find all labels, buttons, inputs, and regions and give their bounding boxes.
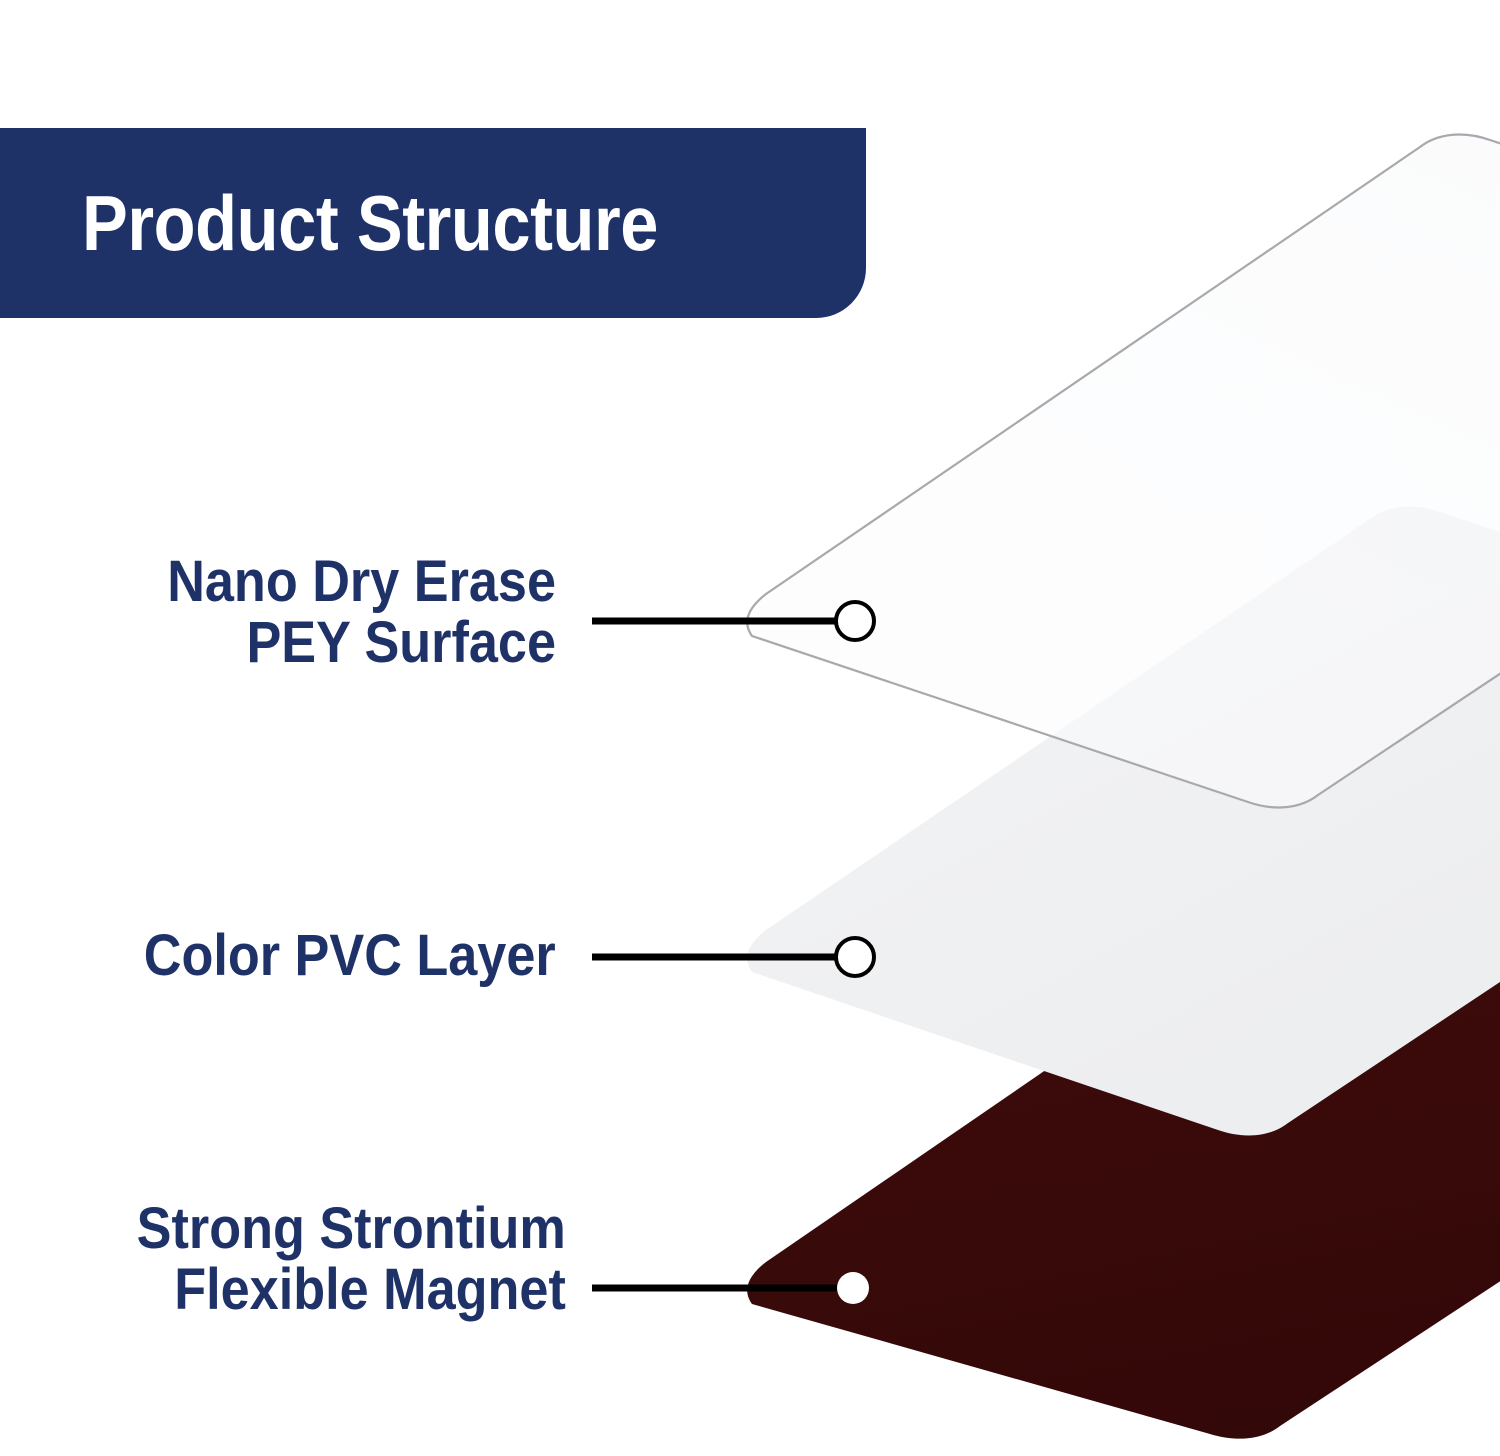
callout-dot-color-pvc-layer: [836, 938, 874, 976]
product-structure-infographic: Product Structure Nano Dry Erase PEY Sur…: [0, 0, 1500, 1456]
callout-dot-strong-strontium-flexible-magnet: [837, 1272, 869, 1304]
header-banner: Product Structure: [0, 128, 866, 318]
callout-label-color-pvc-layer: Color PVC Layer: [144, 925, 556, 986]
layer-shape-color-pvc-layer: [747, 507, 1500, 1136]
callout-dot-nano-dry-erase-pey-surface: [836, 602, 874, 640]
layer-shape-strong-strontium-flexible-magnet: [747, 877, 1500, 1438]
callout-label-nano-dry-erase-pey-surface: Nano Dry Erase PEY Surface: [167, 551, 556, 674]
callout-label-strong-strontium-flexible-magnet: Strong Strontium Flexible Magnet: [137, 1198, 566, 1321]
page-title: Product Structure: [82, 184, 658, 262]
leader-lines: [592, 621, 840, 1288]
